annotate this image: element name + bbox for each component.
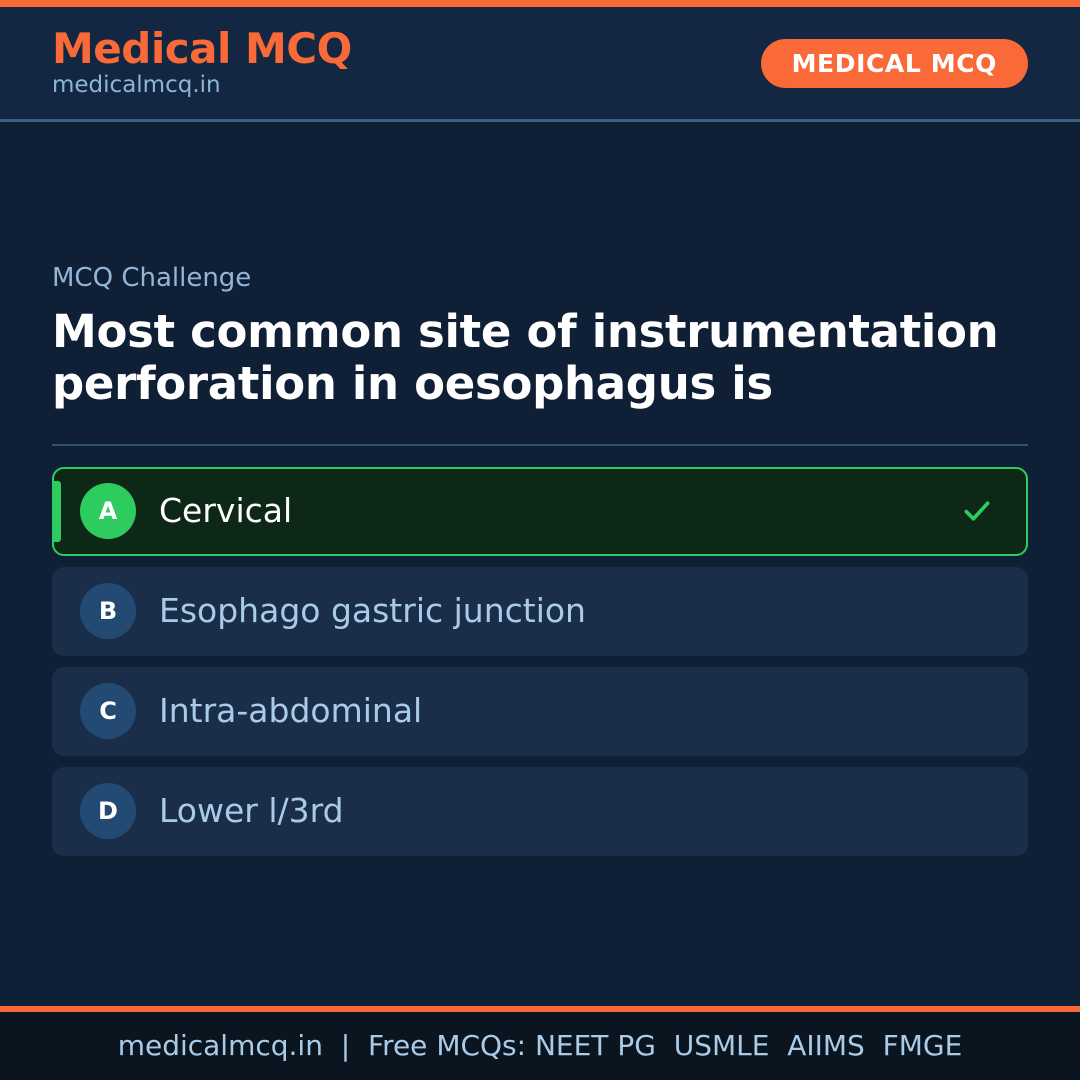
brand-subtitle: medicalmcq.in bbox=[52, 73, 352, 98]
brand-block: Medical MCQ medicalmcq.in bbox=[52, 27, 352, 98]
correct-accent-bar bbox=[54, 481, 61, 542]
mcq-card: Medical MCQ medicalmcq.in MEDICAL MCQ MC… bbox=[0, 0, 1080, 1080]
question-block: MCQ Challenge Most common site of instru… bbox=[52, 263, 1028, 856]
option-letter-d: D bbox=[80, 783, 136, 839]
footer-text: medicalmcq.in | Free MCQs: NEET PG USMLE… bbox=[118, 1032, 963, 1060]
option-row-c[interactable]: C Intra-abdominal bbox=[52, 667, 1028, 756]
option-row-a[interactable]: A Cervical bbox=[52, 467, 1028, 556]
option-letter-c: C bbox=[80, 683, 136, 739]
question-divider bbox=[52, 444, 1028, 446]
header-bar: Medical MCQ medicalmcq.in MEDICAL MCQ bbox=[0, 7, 1080, 122]
option-text-b: Esophago gastric junction bbox=[159, 591, 1000, 631]
option-row-b[interactable]: B Esophago gastric junction bbox=[52, 567, 1028, 656]
footer-bar: medicalmcq.in | Free MCQs: NEET PG USMLE… bbox=[0, 1012, 1080, 1080]
options-list: A Cervical B Esophago gastric junction C… bbox=[52, 467, 1028, 856]
option-text-d: Lower l/3rd bbox=[159, 791, 1000, 831]
section-eyebrow: MCQ Challenge bbox=[52, 263, 1028, 294]
header-badge: MEDICAL MCQ bbox=[761, 39, 1028, 88]
top-accent-strip bbox=[0, 0, 1080, 7]
option-letter-a: A bbox=[80, 483, 136, 539]
option-text-a: Cervical bbox=[159, 491, 960, 531]
brand-title: Medical MCQ bbox=[52, 27, 352, 71]
check-icon bbox=[960, 494, 994, 528]
main-content: MCQ Challenge Most common site of instru… bbox=[0, 122, 1080, 1006]
option-text-c: Intra-abdominal bbox=[159, 691, 1000, 731]
option-row-d[interactable]: D Lower l/3rd bbox=[52, 767, 1028, 856]
option-letter-b: B bbox=[80, 583, 136, 639]
question-text: Most common site of instrumentation perf… bbox=[52, 306, 1028, 410]
